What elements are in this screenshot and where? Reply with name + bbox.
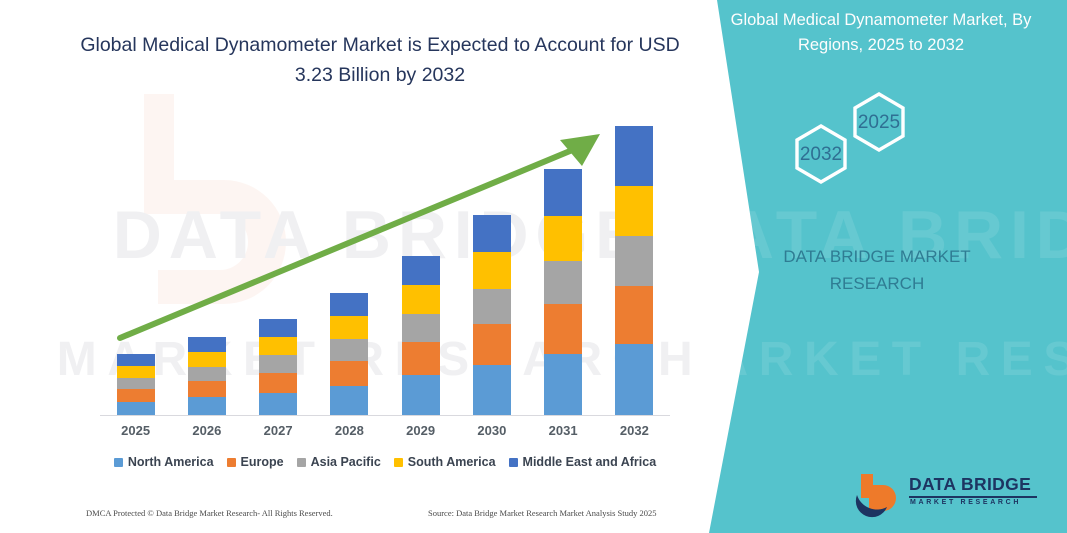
axis-baseline: [100, 415, 670, 416]
footer-source: Source: Data Bridge Market Research Mark…: [428, 508, 657, 518]
bar-segment[interactable]: [259, 393, 297, 416]
x-axis-label: 2027: [243, 423, 313, 438]
bar-segment[interactable]: [117, 354, 155, 366]
legend-swatch-icon: [114, 458, 123, 467]
legend-label: South America: [408, 455, 496, 469]
x-axis-label: 2028: [314, 423, 384, 438]
bar-segment[interactable]: [402, 314, 440, 342]
bar-segment[interactable]: [544, 216, 582, 261]
bar-segment[interactable]: [473, 289, 511, 324]
logo-text-sub: MARKET RESEARCH: [910, 499, 1021, 506]
legend-label: North America: [128, 455, 214, 469]
bar-segment[interactable]: [615, 286, 653, 344]
bar-segment[interactable]: [473, 252, 511, 289]
plot-area: [100, 110, 670, 416]
logo-mark-icon: [853, 472, 905, 518]
legend-item[interactable]: South America: [394, 455, 496, 469]
bar-segment[interactable]: [259, 337, 297, 355]
bar-group[interactable]: [544, 169, 582, 416]
bar-segment[interactable]: [188, 397, 226, 416]
panel-brand-line2: RESEARCH: [830, 274, 924, 293]
bar-segment[interactable]: [615, 236, 653, 286]
bar-group[interactable]: [473, 215, 511, 416]
bar-segment[interactable]: [615, 126, 653, 186]
bar-segment[interactable]: [544, 304, 582, 354]
legend-swatch-icon: [227, 458, 236, 467]
legend-item[interactable]: Asia Pacific: [297, 455, 381, 469]
bar-segment[interactable]: [473, 365, 511, 416]
legend-swatch-icon: [509, 458, 518, 467]
chart-panel: DATA BRIDGE MARKET RESEARCH Global Medic…: [0, 0, 760, 533]
bar-segment[interactable]: [188, 367, 226, 381]
bar-segment[interactable]: [188, 337, 226, 352]
x-axis-label: 2025: [101, 423, 171, 438]
hexagon-end-year: 2032: [797, 126, 845, 182]
x-axis-label: 2032: [599, 423, 669, 438]
legend-label: Middle East and Africa: [523, 455, 657, 469]
bar-segment[interactable]: [473, 215, 511, 252]
bar-segment[interactable]: [330, 339, 368, 361]
bar-segment[interactable]: [188, 381, 226, 397]
year-hexagons: 2032 2025: [783, 88, 983, 208]
bar-segment[interactable]: [402, 342, 440, 375]
x-axis-label: 2030: [457, 423, 527, 438]
chart-title: Global Medical Dynamometer Market is Exp…: [60, 30, 700, 90]
x-axis-label: 2029: [386, 423, 456, 438]
hexagon-start-year-label: 2025: [858, 112, 900, 133]
legend-swatch-icon: [394, 458, 403, 467]
bar-segment[interactable]: [117, 378, 155, 389]
logo-text-main: DATA BRIDGE: [909, 474, 1031, 495]
bar-group[interactable]: [402, 256, 440, 416]
chart-legend: North AmericaEuropeAsia PacificSouth Ame…: [100, 455, 670, 469]
bar-segment[interactable]: [615, 344, 653, 416]
bar-segment[interactable]: [259, 319, 297, 337]
bar-segment[interactable]: [188, 352, 226, 367]
x-axis-labels: 20252026202720282029203020312032: [100, 423, 670, 445]
company-logo: DATA BRIDGE MARKET RESEARCH: [853, 472, 1043, 520]
x-axis-label: 2031: [528, 423, 598, 438]
bar-segment[interactable]: [259, 373, 297, 393]
bar-group[interactable]: [117, 354, 155, 416]
bar-segment[interactable]: [117, 402, 155, 416]
bar-segment[interactable]: [330, 293, 368, 316]
legend-swatch-icon: [297, 458, 306, 467]
logo-divider: [909, 496, 1037, 498]
bar-group[interactable]: [259, 319, 297, 416]
bar-segment[interactable]: [259, 355, 297, 373]
bar-segment[interactable]: [402, 256, 440, 285]
footer-copyright: DMCA Protected © Data Bridge Market Rese…: [86, 508, 333, 518]
bar-segment[interactable]: [544, 354, 582, 416]
bar-segment[interactable]: [473, 324, 511, 365]
legend-label: Asia Pacific: [311, 455, 381, 469]
legend-item[interactable]: North America: [114, 455, 214, 469]
bar-segment[interactable]: [615, 186, 653, 236]
bar-group[interactable]: [330, 293, 368, 416]
bar-segment[interactable]: [117, 389, 155, 402]
footer: DMCA Protected © Data Bridge Market Rese…: [0, 505, 710, 527]
panel-brand-name: DATA BRIDGE MARKET RESEARCH: [727, 243, 1027, 297]
infographic-canvas: DATA BRIDGE MARKET RESEARCH Global Medic…: [0, 0, 1067, 533]
bar-group[interactable]: [188, 337, 226, 416]
panel-brand-line1: DATA BRIDGE MARKET: [783, 247, 970, 266]
legend-item[interactable]: Europe: [227, 455, 284, 469]
bar-group[interactable]: [615, 126, 653, 416]
bar-segment[interactable]: [544, 261, 582, 304]
bar-segment[interactable]: [330, 386, 368, 416]
hexagon-end-year-label: 2032: [800, 144, 842, 165]
bar-segment[interactable]: [544, 169, 582, 216]
hexagon-start-year: 2025: [855, 94, 903, 150]
legend-label: Europe: [241, 455, 284, 469]
bar-segment[interactable]: [402, 375, 440, 416]
x-axis-label: 2026: [172, 423, 242, 438]
legend-item[interactable]: Middle East and Africa: [509, 455, 657, 469]
panel-title: Global Medical Dynamometer Market, By Re…: [705, 8, 1057, 58]
bar-segment[interactable]: [330, 361, 368, 386]
bar-segment[interactable]: [117, 366, 155, 378]
bar-segment[interactable]: [402, 285, 440, 314]
bar-segment[interactable]: [330, 316, 368, 339]
